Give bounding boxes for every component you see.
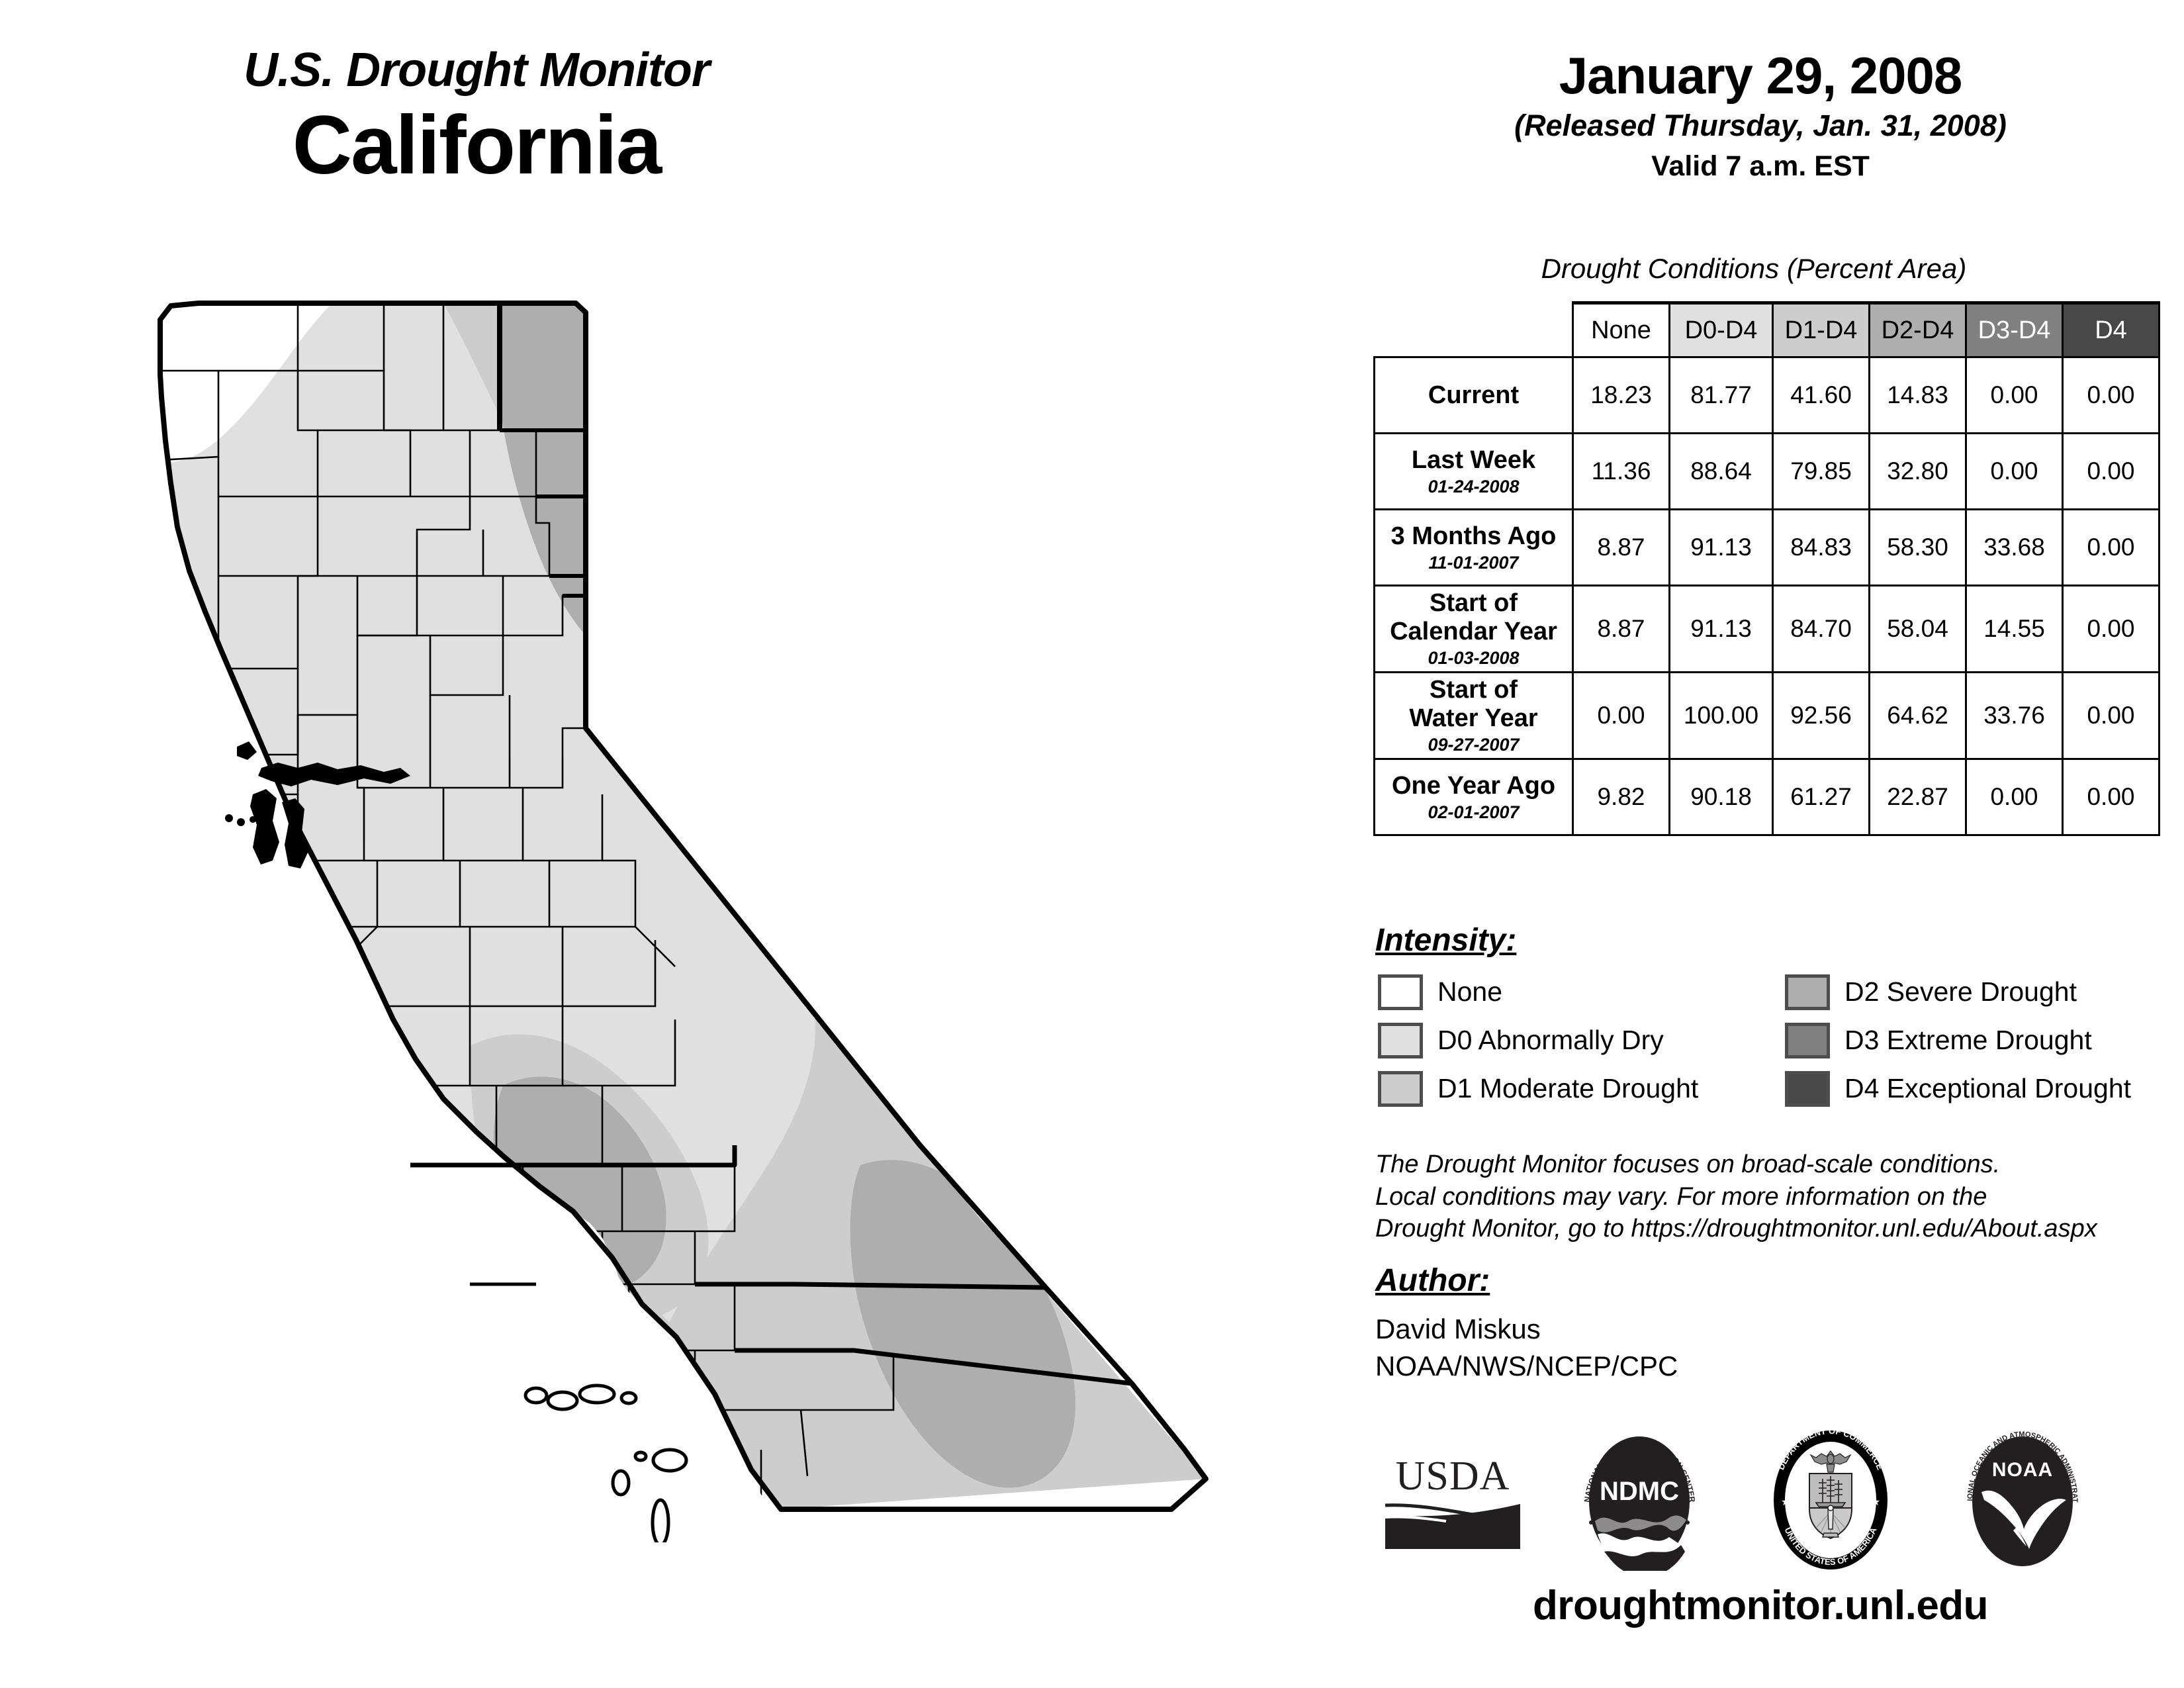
disclaimer-line-3: Drought Monitor, go to https://droughtmo… bbox=[1375, 1213, 2176, 1245]
table-cell-none: 0.00 bbox=[1573, 673, 1670, 759]
agency-logos: USDA NATIONAL DROUGHT MITIGATION CENTER … bbox=[1357, 1423, 2184, 1575]
swatch-d4 bbox=[1785, 1071, 1830, 1107]
map-date: January 29, 2008 bbox=[1337, 50, 2184, 101]
table-cell-d0-d4: 90.18 bbox=[1670, 759, 1773, 835]
table-row: Current18.2381.7741.6014.830.000.00 bbox=[1375, 357, 2160, 434]
swatch-d0 bbox=[1378, 1023, 1423, 1058]
svg-text:NDMC: NDMC bbox=[1600, 1477, 1679, 1506]
swatch-d3 bbox=[1785, 1023, 1830, 1058]
table-cell-d4: 0.00 bbox=[2063, 759, 2160, 835]
table-cell-d1-d4: 79.85 bbox=[1773, 434, 1870, 510]
svg-text:USDA: USDA bbox=[1396, 1454, 1510, 1499]
table-cell-none: 8.87 bbox=[1573, 586, 1670, 673]
map-svg bbox=[99, 265, 1291, 1542]
legend-item-d2: D2 Severe Drought bbox=[1785, 974, 2077, 1010]
ndmc-logo: NATIONAL DROUGHT MITIGATION CENTER UNIVE… bbox=[1575, 1429, 1704, 1571]
author-block: David Miskus NOAA/NWS/NCEP/CPC bbox=[1375, 1311, 1678, 1385]
row-date: 02-01-2007 bbox=[1375, 802, 1572, 822]
column-header-d4: D4 bbox=[2063, 303, 2160, 357]
row-label-cell: Current bbox=[1375, 357, 1573, 434]
usda-logo: USDA bbox=[1380, 1448, 1525, 1554]
column-header-d1d4: D1-D4 bbox=[1773, 303, 1870, 357]
date-block: January 29, 2008 (Released Thursday, Jan… bbox=[1337, 50, 2184, 181]
table-cell-d0-d4: 81.77 bbox=[1670, 357, 1773, 434]
table-cell-none: 8.87 bbox=[1573, 510, 1670, 586]
table-cell-d3-d4: 33.68 bbox=[1966, 510, 2063, 586]
column-header-d2d4: D2-D4 bbox=[1870, 303, 1966, 357]
legend-item-none: None bbox=[1351, 974, 1785, 1010]
table-cell-d2-d4: 58.30 bbox=[1870, 510, 1966, 586]
row-label: Start ofWater Year bbox=[1375, 676, 1572, 732]
row-date: 09-27-2007 bbox=[1375, 735, 1572, 755]
intensity-title: Intensity: bbox=[1375, 922, 1516, 959]
california-drought-map[interactable] bbox=[99, 265, 1291, 1542]
table-cell-d4: 0.00 bbox=[2063, 586, 2160, 673]
table-cell-d0-d4: 88.64 bbox=[1670, 434, 1773, 510]
table-cell-d1-d4: 84.83 bbox=[1773, 510, 1870, 586]
table-cell-d2-d4: 22.87 bbox=[1870, 759, 1966, 835]
table-cell-d2-d4: 14.83 bbox=[1870, 357, 1966, 434]
svg-text:NOAA: NOAA bbox=[1992, 1459, 2053, 1481]
legend-label-d2: D2 Severe Drought bbox=[1844, 976, 2077, 1008]
table-cell-none: 11.36 bbox=[1573, 434, 1670, 510]
legend-label-d1: D1 Moderate Drought bbox=[1437, 1073, 1698, 1104]
legend-label-d3: D3 Extreme Drought bbox=[1844, 1025, 2092, 1056]
row-date: 01-24-2008 bbox=[1375, 477, 1572, 496]
row-label-cell: One Year Ago02-01-2007 bbox=[1375, 759, 1573, 835]
table-header-row: None D0-D4 D1-D4 D2-D4 D3-D4 D4 bbox=[1375, 303, 2160, 357]
table-cell-d2-d4: 58.04 bbox=[1870, 586, 1966, 673]
disclaimer-line-2: Local conditions may vary. For more info… bbox=[1375, 1181, 2176, 1213]
table-cell-d4: 0.00 bbox=[2063, 434, 2160, 510]
legend-label-d4: D4 Exceptional Drought bbox=[1844, 1073, 2131, 1104]
table-cell-d4: 0.00 bbox=[2063, 357, 2160, 434]
column-header-d3d4: D3-D4 bbox=[1966, 303, 2063, 357]
row-date: 11-01-2007 bbox=[1375, 553, 1572, 573]
page-title: U.S. Drought Monitor bbox=[0, 46, 953, 95]
table-cell-d1-d4: 92.56 bbox=[1773, 673, 1870, 759]
title-block: U.S. Drought Monitor California bbox=[0, 46, 953, 187]
row-label-cell: Start ofWater Year09-27-2007 bbox=[1375, 673, 1573, 759]
coast-dots bbox=[225, 814, 256, 826]
legend-label-d0: D0 Abnormally Dry bbox=[1437, 1025, 1664, 1056]
row-date: 01-03-2008 bbox=[1375, 648, 1572, 668]
table-cell-d0-d4: 100.00 bbox=[1670, 673, 1773, 759]
row-label: Start ofCalendar Year bbox=[1375, 589, 1572, 645]
legend-row: D0 Abnormally Dry D3 Extreme Drought bbox=[1351, 1016, 2184, 1064]
table-cell-d4: 0.00 bbox=[2063, 673, 2160, 759]
info-panel: January 29, 2008 (Released Thursday, Jan… bbox=[1337, 0, 2184, 1688]
legend-item-d4: D4 Exceptional Drought bbox=[1785, 1071, 2131, 1107]
doc-logo: DEPARTMENT OF COMMERCE UNITED STATES OF … bbox=[1760, 1429, 1901, 1571]
release-date: (Released Thursday, Jan. 31, 2008) bbox=[1337, 111, 2184, 140]
author-name: David Miskus bbox=[1375, 1311, 1678, 1348]
table-cell-d3-d4: 0.00 bbox=[1966, 357, 2063, 434]
legend-item-d1: D1 Moderate Drought bbox=[1351, 1071, 1785, 1107]
row-label-cell: Start ofCalendar Year01-03-2008 bbox=[1375, 586, 1573, 673]
author-title: Author: bbox=[1375, 1262, 1490, 1299]
disclaimer-line-1: The Drought Monitor focuses on broad-sca… bbox=[1375, 1149, 2176, 1181]
state-title: California bbox=[0, 104, 953, 187]
noaa-logo: NATIONAL OCEANIC AND ATMOSPHERIC ADMINIS… bbox=[1952, 1429, 2093, 1571]
table-cell-d3-d4: 14.55 bbox=[1966, 586, 2063, 673]
table-row: One Year Ago02-01-20079.8290.1861.2722.8… bbox=[1375, 759, 2160, 835]
table-row: 3 Months Ago11-01-20078.8791.1384.8358.3… bbox=[1375, 510, 2160, 586]
column-header-d0d4: D0-D4 bbox=[1670, 303, 1773, 357]
disclaimer: The Drought Monitor focuses on broad-sca… bbox=[1375, 1149, 2176, 1245]
table-corner-cell bbox=[1375, 303, 1573, 357]
table-cell-d1-d4: 41.60 bbox=[1773, 357, 1870, 434]
row-label-cell: Last Week01-24-2008 bbox=[1375, 434, 1573, 510]
legend-label-none: None bbox=[1437, 976, 1502, 1008]
row-label: 3 Months Ago bbox=[1375, 522, 1572, 551]
map-panel: U.S. Drought Monitor California bbox=[0, 0, 1337, 1688]
valid-time: Valid 7 a.m. EST bbox=[1337, 152, 2184, 181]
table-cell-none: 9.82 bbox=[1573, 759, 1670, 835]
table-row: Last Week01-24-200811.3688.6479.8532.800… bbox=[1375, 434, 2160, 510]
channel-islands bbox=[525, 1385, 686, 1542]
table-cell-d4: 0.00 bbox=[2063, 510, 2160, 586]
swatch-d2 bbox=[1785, 974, 1830, 1010]
table-cell-d0-d4: 91.13 bbox=[1670, 510, 1773, 586]
site-url: droughtmonitor.unl.edu bbox=[1337, 1582, 2184, 1629]
table-cell-d0-d4: 91.13 bbox=[1670, 586, 1773, 673]
legend-item-d0: D0 Abnormally Dry bbox=[1351, 1023, 1785, 1058]
table-cell-d3-d4: 0.00 bbox=[1966, 759, 2063, 835]
legend-row: None D2 Severe Drought bbox=[1351, 968, 2184, 1016]
svg-text:★: ★ bbox=[1871, 1497, 1880, 1508]
row-label: One Year Ago bbox=[1375, 772, 1572, 800]
table-body: Current18.2381.7741.6014.830.000.00Last … bbox=[1375, 357, 2160, 835]
table-cell-d3-d4: 0.00 bbox=[1966, 434, 2063, 510]
row-label: Last Week bbox=[1375, 446, 1572, 475]
table-cell-d2-d4: 32.80 bbox=[1870, 434, 1966, 510]
svg-text:★: ★ bbox=[1781, 1497, 1790, 1508]
table-cell-d1-d4: 84.70 bbox=[1773, 586, 1870, 673]
legend-item-d3: D3 Extreme Drought bbox=[1785, 1023, 2092, 1058]
table-row: Start ofCalendar Year01-03-20088.8791.13… bbox=[1375, 586, 2160, 673]
table-cell-none: 18.23 bbox=[1573, 357, 1670, 434]
drought-conditions-table: None D0-D4 D1-D4 D2-D4 D3-D4 D4 Current1… bbox=[1373, 301, 2160, 836]
table-cell-d2-d4: 64.62 bbox=[1870, 673, 1966, 759]
table-cell-d3-d4: 33.76 bbox=[1966, 673, 2063, 759]
table-caption: Drought Conditions (Percent Area) bbox=[1337, 253, 2171, 285]
column-header-none: None bbox=[1573, 303, 1670, 357]
row-label: Current bbox=[1375, 381, 1572, 410]
author-affiliation: NOAA/NWS/NCEP/CPC bbox=[1375, 1348, 1678, 1385]
intensity-legend: None D2 Severe Drought D0 Abnormally Dry… bbox=[1351, 968, 2184, 1113]
table-cell-d1-d4: 61.27 bbox=[1773, 759, 1870, 835]
legend-row: D1 Moderate Drought D4 Exceptional Droug… bbox=[1351, 1064, 2184, 1113]
row-label-cell: 3 Months Ago11-01-2007 bbox=[1375, 510, 1573, 586]
swatch-none bbox=[1378, 974, 1423, 1010]
swatch-d1 bbox=[1378, 1071, 1423, 1107]
table-row: Start ofWater Year09-27-20070.00100.0092… bbox=[1375, 673, 2160, 759]
